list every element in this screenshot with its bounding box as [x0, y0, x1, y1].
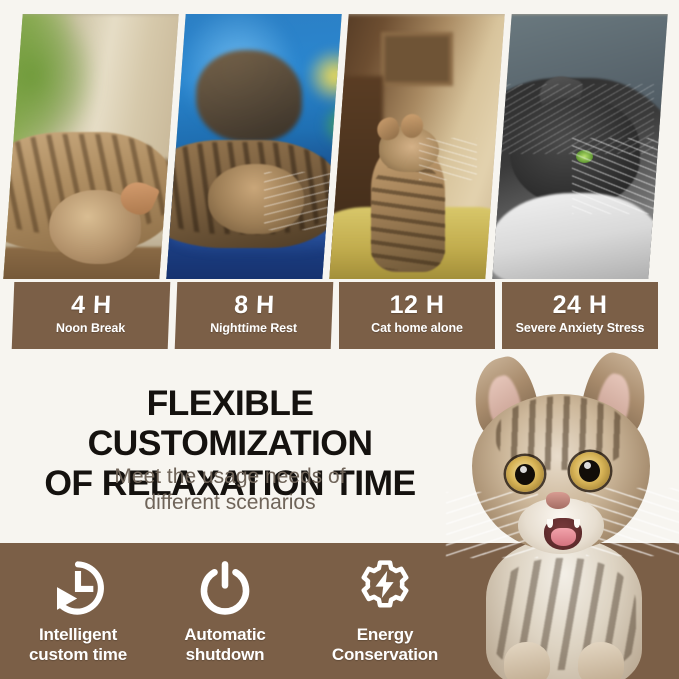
scenario-hours-1: 8 H: [176, 292, 333, 318]
feature-label-2-line2: Conservation: [312, 645, 458, 665]
feature-automatic-shutdown: Automatic shutdown: [152, 557, 298, 664]
scenario-photo-1: [166, 14, 341, 279]
cat-photo-yellow-couch: [329, 14, 504, 279]
feature-bar: Intelligent custom time Automatic shutdo…: [0, 543, 679, 679]
scenario-caption-2: 12 H Cat home alone: [339, 282, 495, 349]
scenario-caption-3: 24 H Severe Anxiety Stress: [502, 282, 658, 349]
gear-bolt-icon: [312, 557, 458, 619]
feature-intelligent-custom-time: Intelligent custom time: [5, 557, 151, 664]
scenario-label-1: Nighttime Rest: [175, 321, 332, 335]
page-subtitle: Meet the usage needs of different scenar…: [0, 464, 460, 516]
scenario-hours-2: 12 H: [339, 292, 495, 318]
power-icon: [152, 557, 298, 619]
scenario-caption-1: 8 H Nighttime Rest: [175, 282, 334, 349]
clock-play-icon: [5, 557, 151, 619]
scenario-panel-noon-break: 4 H Noon Break: [13, 14, 169, 349]
feature-label-1-line2: shutdown: [152, 645, 298, 665]
scenario-panel-cat-home-alone: 12 H Cat home alone: [339, 14, 495, 349]
scenario-panel-nighttime-rest: 8 H Nighttime Rest: [176, 14, 332, 349]
headline-block: FLEXIBLE CUSTOMIZATION OF RELAXATION TIM…: [0, 352, 679, 542]
cat-photo-sleeping-tabby: [3, 14, 178, 279]
feature-label-1-line1: Automatic: [152, 625, 298, 645]
feature-label-0-line1: Intelligent: [5, 625, 151, 645]
scenario-photo-2: [329, 14, 504, 279]
feature-label-1: Automatic shutdown: [152, 625, 298, 664]
scenario-photo-0: [3, 14, 178, 279]
scenario-panel-severe-anxiety-stress: 24 H Severe Anxiety Stress: [502, 14, 658, 349]
scenario-label-0: Noon Break: [12, 321, 169, 335]
subtitle-line-1: Meet the usage needs of: [0, 464, 460, 490]
feature-label-2-line1: Energy: [312, 625, 458, 645]
scenario-caption-0: 4 H Noon Break: [12, 282, 171, 349]
subtitle-line-2: different scenarios: [0, 490, 460, 516]
scenario-photo-strip: 4 H Noon Break: [0, 0, 679, 352]
scenario-hours-3: 24 H: [502, 292, 658, 318]
scenario-label-2: Cat home alone: [339, 321, 495, 335]
scenario-photo-3: [492, 14, 667, 279]
scenario-hours-0: 4 H: [13, 292, 170, 318]
scenario-label-3: Severe Anxiety Stress: [502, 321, 658, 335]
cat-photo-black-white-closeup: [492, 14, 667, 279]
feature-label-0-line2: custom time: [5, 645, 151, 665]
feature-energy-conservation: Energy Conservation: [312, 557, 458, 664]
headline-line-1: FLEXIBLE CUSTOMIZATION: [88, 383, 373, 463]
feature-label-0: Intelligent custom time: [5, 625, 151, 664]
product-infographic: 4 H Noon Break: [0, 0, 679, 679]
cat-photo-blue-bed: [166, 14, 341, 279]
feature-label-2: Energy Conservation: [312, 625, 458, 664]
